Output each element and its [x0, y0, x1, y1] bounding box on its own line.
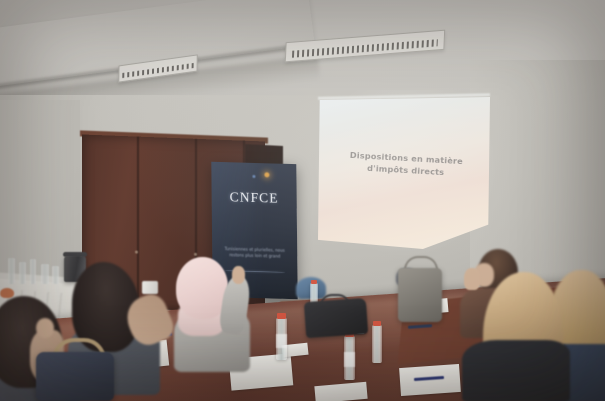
participant-torso [462, 340, 570, 401]
bottle-label [344, 352, 355, 367]
bottle-cap [311, 280, 317, 284]
glass-bottle [19, 262, 26, 284]
cabinet-seam [137, 137, 139, 309]
navy-handbag[interactable] [36, 352, 114, 401]
water-bottle[interactable] [372, 325, 382, 363]
bottle-label [276, 334, 287, 348]
glass-tumbler [41, 264, 49, 284]
fruit-bowl [0, 288, 14, 298]
bottle-cap [373, 321, 381, 326]
glass-bottle [8, 258, 15, 284]
drinking-cup[interactable] [142, 281, 158, 294]
glass-tumbler [52, 266, 59, 284]
grey-handbag[interactable] [398, 268, 442, 322]
banner-accent-dot-icon [264, 173, 269, 178]
participant-hand [232, 266, 245, 284]
speaker-hand [464, 268, 480, 290]
slide-title: Dispositions en matière d'impôts directs [331, 149, 480, 181]
black-shoulder-bag[interactable] [304, 298, 368, 338]
cabinet-knob[interactable] [135, 250, 138, 253]
bottle-cap [277, 313, 286, 319]
cabinet-knob[interactable] [194, 252, 197, 255]
handout-sheet[interactable] [399, 364, 461, 396]
handout-sheet[interactable] [314, 382, 367, 401]
glass-bottle [30, 259, 36, 284]
cnfce-logo: CNFCE [212, 189, 297, 207]
participant-hand [36, 318, 54, 338]
banner-tagline: Tunisiennes et plurielles, nous restons … [219, 246, 291, 260]
photograph: Dispositions en matière d'impôts directs… [0, 0, 605, 401]
projection-screen: Dispositions en matière d'impôts directs [318, 97, 490, 249]
banner-accent-dot-icon [252, 175, 255, 178]
